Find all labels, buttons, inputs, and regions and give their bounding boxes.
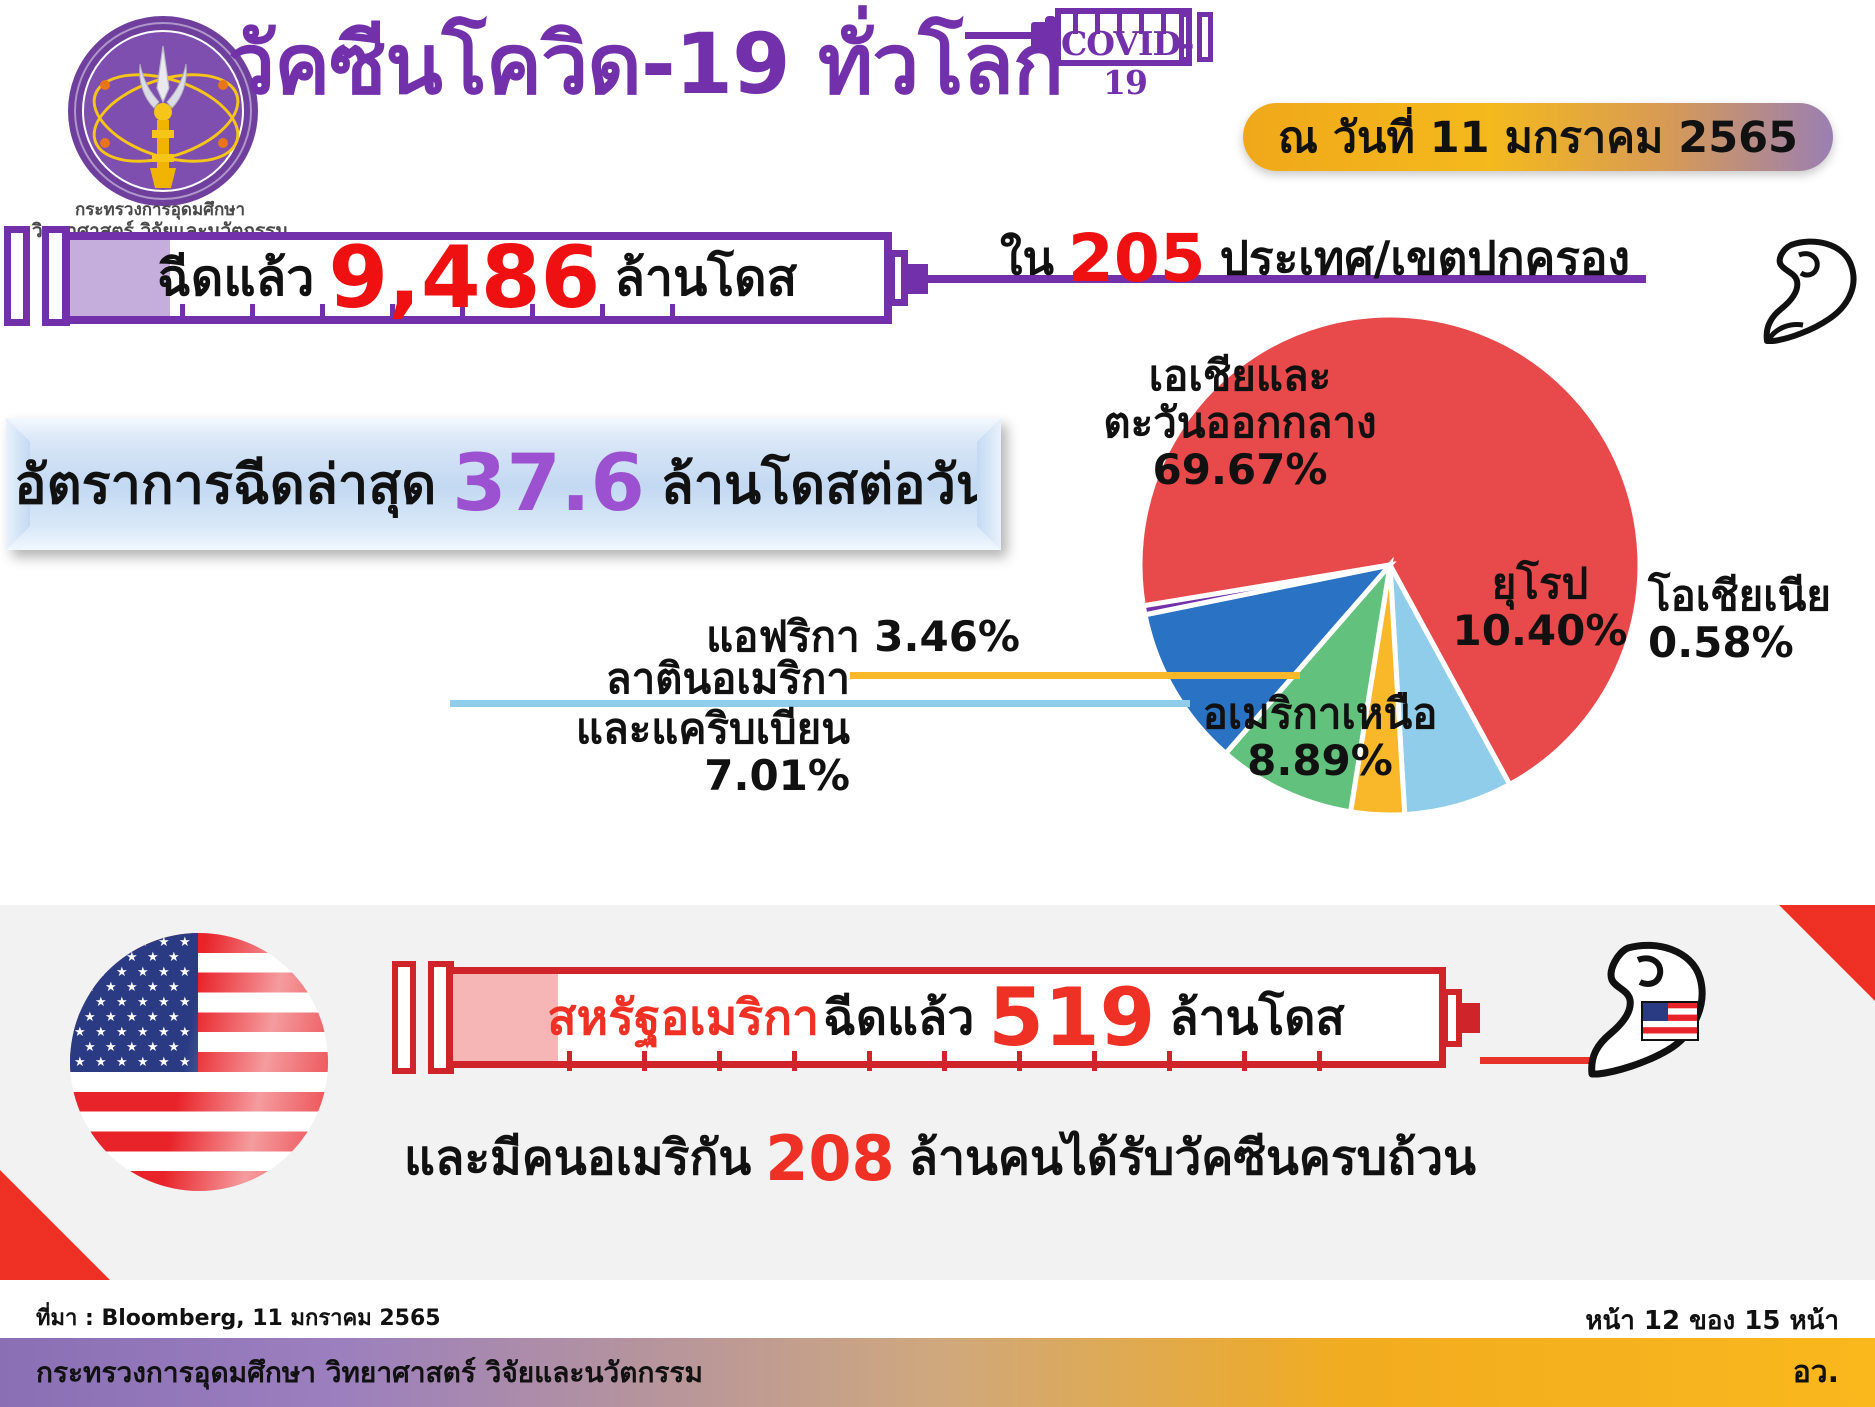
flexed-arm-usa-icon bbox=[1580, 940, 1715, 1090]
usa-country-label: สหรัฐอเมริกา bbox=[547, 980, 819, 1056]
date-badge: ณ วันที่ 11 มกราคม 2565 bbox=[1243, 103, 1833, 171]
pie-label-latam-line1: ลาตินอเมริกา bbox=[430, 655, 850, 702]
page-number: หน้า 12 ของ 15 หน้า bbox=[1585, 1300, 1839, 1341]
daily-rate-box: อัตราการฉีดล่าสุด 37.6 ล้านโดสต่อวัน bbox=[6, 418, 1001, 550]
usa-sub-prefix: และมีคนอเมริกัน bbox=[404, 1120, 751, 1196]
pie-label-asia: เอเชียและ ตะวันออกกลาง 69.67% bbox=[1010, 352, 1470, 493]
rate-suffix: ล้านโดสต่อวัน bbox=[661, 441, 993, 527]
syringe-plunger-handle bbox=[4, 226, 30, 326]
usa-doses-syringe: สหรัฐอเมริกา ฉีดแล้ว 519 ล้านโดส bbox=[392, 955, 1462, 1080]
footer-bar: กระทรวงการอุดมศึกษา วิทยาศาสตร์ วิจัยและ… bbox=[0, 1338, 1875, 1407]
covid-syringe-badge-icon: COVID-19 bbox=[965, 2, 1195, 77]
footer-abbr-label: อว. bbox=[1793, 1338, 1839, 1407]
rate-value: 37.6 bbox=[452, 439, 644, 529]
usa-syringe-plunger-handle bbox=[392, 961, 416, 1074]
rate-prefix: อัตราการฉีดล่าสุด bbox=[14, 441, 436, 527]
usa-doses-value: 519 bbox=[988, 971, 1155, 1064]
us-flag-icon: ★★★★★★★★★★★★★★★★★★★★★★★★★★★★★★★★★★★★★★★★… bbox=[70, 933, 328, 1191]
footer-ministry-label: กระทรวงการอุดมศึกษา วิทยาศาสตร์ วิจัยและ… bbox=[36, 1338, 703, 1407]
usa-sub-suffix: ล้านคนได้รับวัคซีนครบถ้วน bbox=[909, 1120, 1476, 1196]
countries-count-group: ใน 205 ประเทศ/เขตปกครอง bbox=[1000, 228, 1630, 288]
countries-prefix: ใน bbox=[1000, 222, 1054, 295]
covid-badge-label: COVID-19 bbox=[1061, 24, 1189, 102]
leader-line-africa bbox=[850, 672, 1300, 679]
trident-icon bbox=[128, 42, 198, 192]
pie-label-latam-line2: และแคริบเบียน 7.01% bbox=[430, 705, 850, 799]
countries-value: 205 bbox=[1068, 220, 1206, 297]
page-title: วัคซีนโควิด-19 ทั่วโลก bbox=[228, 22, 1063, 106]
usa-doses-prefix: ฉีดแล้ว bbox=[823, 980, 974, 1056]
date-badge-label: ณ วันที่ 11 มกราคม 2565 bbox=[1243, 103, 1833, 171]
flexed-arm-icon bbox=[1755, 235, 1865, 355]
pie-label-north-america: อเมริกาเหนือ 8.89% bbox=[1155, 690, 1485, 784]
source-text: ที่มา : Bloomberg, 11 มกราคม 2565 bbox=[36, 1300, 441, 1335]
global-doses-syringe: ฉีดแล้ว 9,486 ล้านโดส bbox=[0, 222, 900, 332]
corner-accent-top-right bbox=[1779, 905, 1875, 1001]
pie-label-oceania: โอเชียเนีย 0.58% bbox=[1648, 572, 1875, 666]
countries-suffix: ประเทศ/เขตปกครอง bbox=[1220, 222, 1630, 295]
global-doses-unit: ล้านโดส bbox=[614, 239, 797, 318]
pie-label-europe: ยุโรป 10.40% bbox=[1430, 560, 1650, 654]
usa-fully-vaccinated-group: และมีคนอเมริกัน 208 ล้านคนได้รับวัคซีนคร… bbox=[350, 1120, 1530, 1196]
global-doses-value: 9,486 bbox=[328, 228, 600, 328]
global-doses-prefix: ฉีดแล้ว bbox=[157, 239, 314, 318]
usa-section: ★★★★★★★★★★★★★★★★★★★★★★★★★★★★★★★★★★★★★★★★… bbox=[0, 905, 1875, 1280]
usa-sub-value: 208 bbox=[765, 1122, 894, 1195]
usa-doses-unit: ล้านโดส bbox=[1169, 980, 1344, 1056]
pie-label-africa: แอฟริกา 3.46% bbox=[690, 613, 1020, 660]
